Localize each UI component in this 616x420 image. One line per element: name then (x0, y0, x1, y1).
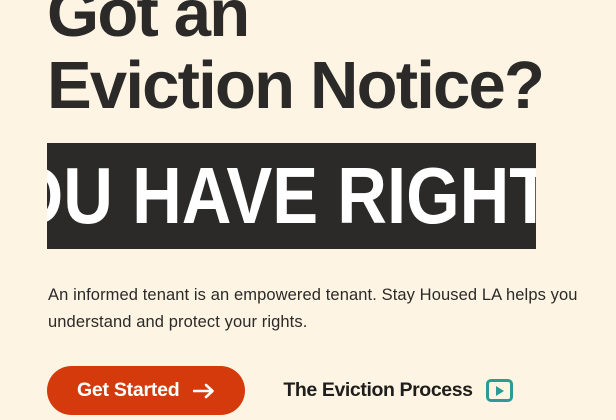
play-button-icon[interactable] (486, 379, 513, 402)
page-title: Got an Eviction Notice? (47, 0, 587, 122)
eviction-process-link[interactable]: The Eviction Process (283, 379, 512, 402)
get-started-label: Get Started (77, 379, 179, 402)
headline-line-2: Eviction Notice? (47, 50, 587, 122)
rights-banner: YOU HAVE RIGHTS! (47, 143, 536, 249)
cta-row: Get Started The Eviction Process (47, 366, 513, 415)
hero-description: An informed tenant is an empowered tenan… (48, 282, 593, 336)
hero-section: Got an Eviction Notice? YOU HAVE RIGHTS!… (0, 0, 616, 420)
play-triangle-icon (496, 386, 504, 396)
arrow-right-icon (193, 383, 215, 399)
get-started-button[interactable]: Get Started (47, 366, 245, 415)
eviction-process-label: The Eviction Process (283, 379, 472, 402)
headline-line-1: Got an (47, 0, 587, 50)
rights-banner-text: YOU HAVE RIGHTS! (47, 156, 536, 236)
